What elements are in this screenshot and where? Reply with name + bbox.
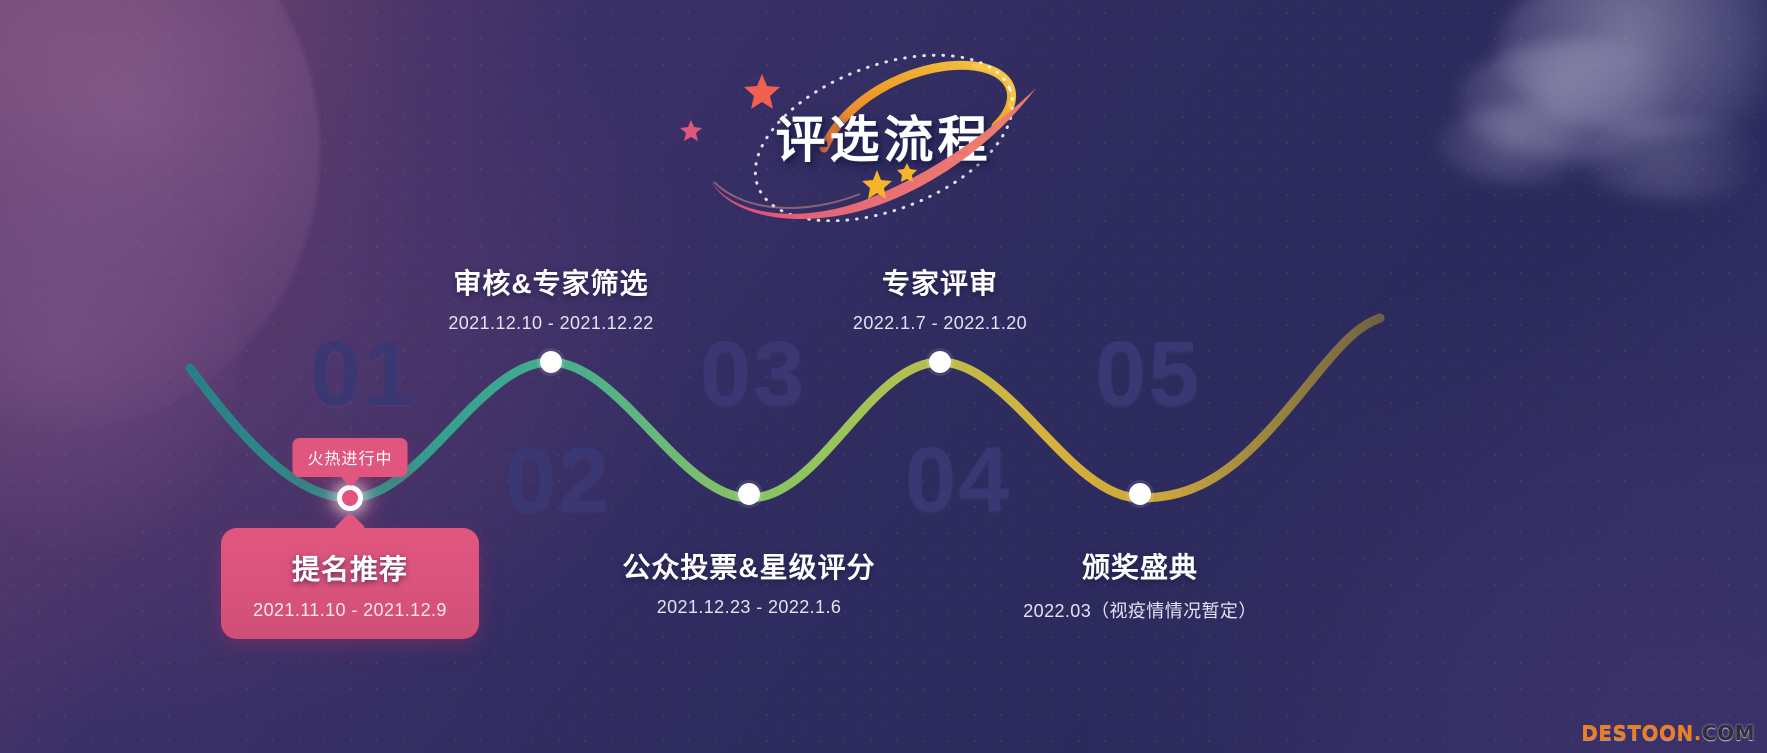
step-title-01: 提名推荐	[231, 548, 469, 588]
watermark: DESTOON.COM	[1581, 721, 1755, 745]
timeline-node-04[interactable]	[929, 351, 951, 373]
step-title-02: 审核&专家筛选	[448, 262, 653, 302]
step-title-03: 公众投票&星级评分	[622, 546, 875, 586]
timeline-node-05[interactable]	[1129, 483, 1151, 505]
step-date-05: 2022.03（视疫情情况暂定）	[1023, 597, 1256, 623]
step-date-02: 2021.12.10 - 2021.12.22	[448, 313, 653, 334]
timeline-node-03[interactable]	[738, 483, 760, 505]
step-label-04[interactable]: 专家评审 2022.1.7 - 2022.1.20	[853, 262, 1027, 334]
status-badge-step-01: 火热进行中	[292, 438, 407, 477]
watermark-brand: DESTOON	[1581, 721, 1694, 745]
timeline-node-01-active[interactable]	[337, 485, 363, 511]
step-title-05: 颁奖盛典	[1023, 546, 1256, 586]
step-title-04: 专家评审	[853, 262, 1027, 302]
watermark-tld: COM	[1702, 721, 1755, 745]
step-label-05[interactable]: 颁奖盛典 2022.03（视疫情情况暂定）	[1023, 546, 1256, 623]
step-date-03: 2021.12.23 - 2022.1.6	[622, 597, 875, 618]
step-label-02[interactable]: 审核&专家筛选 2021.12.10 - 2021.12.22	[448, 262, 653, 334]
step-date-01: 2021.11.10 - 2021.12.9	[231, 600, 469, 621]
page-root: 评选流程	[0, 0, 1767, 753]
step-date-04: 2022.1.7 - 2022.1.20	[853, 313, 1027, 334]
watermark-dot: .	[1694, 721, 1702, 745]
timeline-node-02[interactable]	[540, 351, 562, 373]
timeline-curve	[0, 300, 1767, 560]
step-card-01[interactable]: 提名推荐 2021.11.10 - 2021.12.9	[221, 528, 479, 639]
step-label-03[interactable]: 公众投票&星级评分 2021.12.23 - 2022.1.6	[622, 546, 875, 618]
